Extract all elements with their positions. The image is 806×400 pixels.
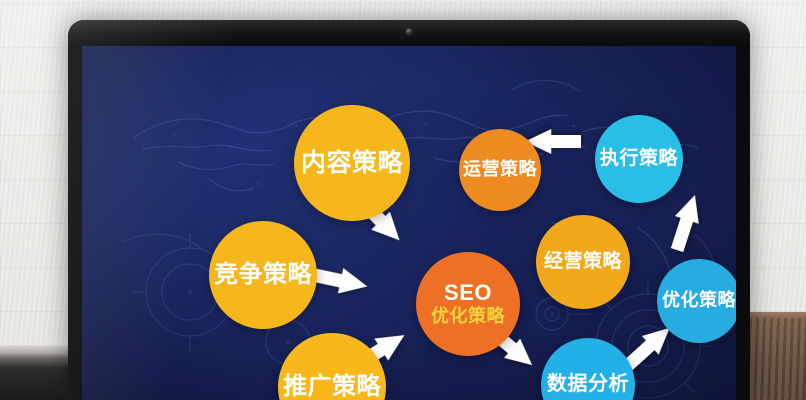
node-content-strategy[interactable]: 内容策略 xyxy=(294,105,410,221)
node-management-strategy-label: 经营策略 xyxy=(544,252,622,273)
node-promotion-strategy-label: 推广策略 xyxy=(283,374,381,400)
node-management-strategy[interactable]: 经营策略 xyxy=(536,215,630,309)
laptop-device: 内容策略竞争策略推广策略运营策略经营策略执行策略优化策略数据分析SEO优化策略 xyxy=(68,20,750,400)
node-content-strategy-label: 内容策略 xyxy=(301,150,403,177)
screenshot-stage: 内容策略竞争策略推广策略运营策略经营策略执行策略优化策略数据分析SEO优化策略 xyxy=(0,0,806,400)
node-execution-strategy[interactable]: 执行策略 xyxy=(595,115,683,203)
webcam-icon xyxy=(407,29,412,34)
node-optimization-strategy-label: 优化策略 xyxy=(662,291,736,310)
node-competition-strategy[interactable]: 竞争策略 xyxy=(209,221,317,329)
node-execution-strategy-label: 执行策略 xyxy=(600,149,678,170)
node-operation-strategy[interactable]: 运营策略 xyxy=(459,129,541,211)
node-operation-strategy-label: 运营策略 xyxy=(463,160,537,179)
wooden-table-right xyxy=(742,318,806,400)
node-seo-center[interactable]: SEO优化策略 xyxy=(416,252,520,356)
center-node-line1: SEO xyxy=(444,281,492,305)
center-node-line2: 优化策略 xyxy=(431,307,505,326)
laptop-screen: 内容策略竞争策略推广策略运营策略经营策略执行策略优化策略数据分析SEO优化策略 xyxy=(82,46,736,400)
node-competition-strategy-label: 竞争策略 xyxy=(214,262,312,288)
node-optimization-strategy[interactable]: 优化策略 xyxy=(657,259,736,343)
node-data-analysis-label: 数据分析 xyxy=(547,374,629,396)
